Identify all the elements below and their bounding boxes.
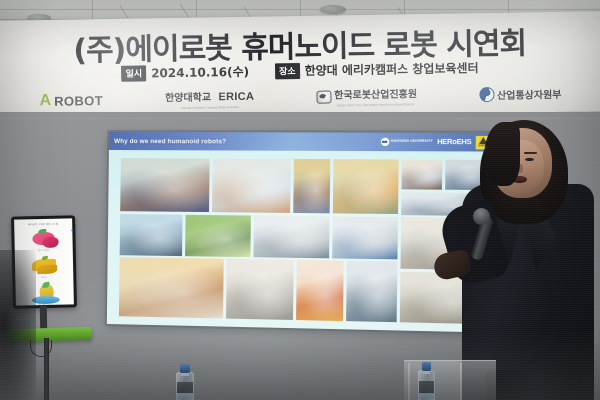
arobot-logo: A ROBOT [39,92,103,109]
photo-scene: (주)에이로봇 휴머노이드 로봇 시연회 일시 2024.10.16(수) 장소… [0,0,600,400]
date-value: 2024.10.16(수) [151,63,249,82]
slide-photo [185,214,251,256]
arobot-letter: A [39,93,51,109]
motie-logo: 산업통상자원부 [479,85,562,101]
slide-photo [120,158,209,212]
water-bottle-left[interactable] [176,364,194,400]
hanyang-ko: 한양대학교 [165,92,211,104]
arobot-wordmark: ROBOT [54,93,103,109]
slide-photo [119,258,224,319]
kiria-ko: 한국로봇산업진흥원 [334,89,417,101]
event-banner: (주)에이로봇 휴머노이드 로봇 시연회 일시 2024.10.16(수) 장소… [0,11,600,121]
water-bottle-right[interactable] [418,362,435,400]
hair-front [484,122,520,186]
hanyang-university-label: HANYANG UNIVERSITY [391,140,433,144]
motie-ko: 산업통상자원부 [497,85,562,101]
power-led-icon [71,229,73,231]
sponsor-logo-row: A ROBOT 한양대학교 ERICA Education Research I… [0,81,600,113]
foreground-shadow [0,250,36,400]
kiria-logo: 한국로봇산업진흥원 KOREA INSTITUTE FOR ROBOT INDU… [316,84,417,108]
slide-body [107,150,495,333]
erica-subtitle: Education Research Industry Cluster at A… [165,106,254,110]
slide-photo [296,260,345,321]
slide-title: Why do we need humanoid robots? [114,138,226,145]
slide-photo [212,158,291,212]
legs [486,370,582,400]
slide-photo [333,159,399,214]
presenter [452,120,600,400]
erica-wordmark: ERICA [218,91,254,104]
kiria-icon [316,90,331,103]
slide-photo [120,214,183,256]
slide-photo [402,159,443,189]
hanyang-university-icon: HANYANG UNIVERSITY [380,138,433,146]
kiria-subtitle: KOREA INSTITUTE FOR ROBOT INDUSTRY ADVAN… [334,103,417,107]
kiosk-title: 에이로봇 스마트 비전 시스템 [14,221,72,226]
slide-photo [333,216,399,259]
slide-header: Why do we need humanoid robots? HANYANG … [109,132,495,152]
place-value: 한양대 에리카캠퍼스 창업보육센터 [304,59,478,79]
projection-screen: Why do we need humanoid robots? HANYANG … [107,132,495,333]
slide-photo [293,159,331,213]
stand-pole [44,338,49,400]
taegeuk-icon [479,86,494,101]
date-tag: 일시 [121,65,146,81]
slide-photo [226,259,293,320]
photo-grid [115,156,486,326]
place-tag: 장소 [275,63,300,79]
slide-photo [253,215,330,258]
slide-photo [346,261,397,322]
ceiling-light [320,5,346,14]
hanyang-erica-logo: 한양대학교 ERICA Education Research Industry … [165,87,255,110]
